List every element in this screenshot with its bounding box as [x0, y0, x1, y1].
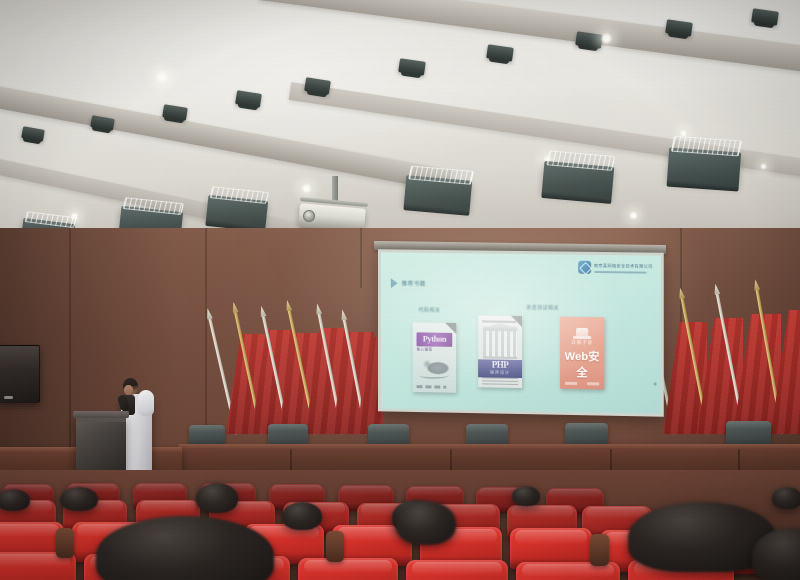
projector-mount-pole	[332, 176, 338, 202]
book-footer-text	[482, 377, 518, 385]
recessed-downlight	[301, 183, 312, 194]
python-book-cover: Python 核心编程	[413, 322, 457, 392]
chair-highlight	[466, 424, 508, 432]
php-book-cover: PHP 程序设计	[478, 315, 522, 388]
track-spot-light	[162, 104, 188, 121]
flag-cluster-right	[663, 278, 800, 434]
chair-highlight	[368, 424, 409, 432]
php-title-band: PHP 程序设计	[478, 359, 522, 378]
flag-pole-finial	[284, 299, 292, 311]
recessed-downlight	[155, 70, 169, 84]
web-book-title: Web安全	[560, 348, 604, 381]
flag-pole-finial	[712, 283, 720, 295]
python-book-title: Python	[417, 333, 453, 344]
rat-illustration	[416, 353, 455, 382]
slide-logo-text: 南京某网络安全技术有限公司	[594, 262, 653, 273]
wall-panel-seam	[205, 228, 207, 428]
track-spot-light	[90, 115, 115, 131]
company-name: 南京某网络安全技术有限公司	[594, 262, 653, 269]
table-edge	[178, 444, 800, 449]
projector-lens	[303, 209, 316, 222]
projected-slide: 南京某网络安全技术有限公司 推荐书籍 代码相关 渗透测试相关 Python 核心…	[381, 252, 661, 413]
track-spot-light	[304, 77, 331, 95]
seat-armrest	[590, 534, 609, 566]
wall-mounted-tv[interactable]	[0, 345, 40, 403]
speaker-podium	[76, 416, 126, 474]
flag-cluster-left	[224, 286, 374, 434]
flag-pole-finial	[752, 279, 760, 291]
chair-highlight	[189, 425, 225, 432]
ceiling-vent-unit	[667, 148, 741, 187]
track-spot-light	[751, 8, 779, 25]
recessed-downlight	[629, 211, 638, 220]
track-spot-light	[235, 90, 262, 108]
recessed-downlight	[600, 32, 613, 45]
presenter-hood	[138, 390, 154, 416]
seat-armrest	[56, 528, 74, 558]
track-spot-light	[398, 58, 426, 75]
ceiling-vent-unit	[542, 161, 615, 199]
slide-company-logo: 南京某网络安全技术有限公司	[578, 261, 653, 275]
tv-screen-sheen	[0, 346, 39, 371]
recessed-downlight	[760, 163, 767, 170]
presenter-face	[124, 385, 133, 395]
seat-armrest	[326, 531, 344, 562]
auditorium-photo: 南京某网络安全技术有限公司 推荐书籍 代码相关 渗透测试相关 Python 核心…	[0, 0, 800, 580]
chair-highlight	[268, 424, 308, 431]
slide-heading: 推荐书籍	[391, 278, 426, 288]
ceiling-vent-unit	[404, 175, 472, 211]
tv-indicator-bar	[4, 396, 14, 399]
book-topline	[482, 320, 516, 323]
track-spot-light	[575, 31, 603, 48]
attendee-head	[396, 501, 456, 545]
attendee-head	[60, 487, 98, 511]
flag-pole-finial	[230, 301, 238, 313]
slide-page-marker	[654, 382, 657, 385]
podium-top	[73, 411, 129, 418]
track-spot-light	[21, 126, 45, 142]
book-footer-text	[565, 382, 599, 386]
wall-panel-seam	[360, 228, 362, 288]
chair-highlight	[565, 423, 608, 431]
projection-screen: 南京某网络安全技术有限公司 推荐书籍 代码相关 渗透测试相关 Python 核心…	[378, 249, 664, 416]
flag-pole-finial	[258, 305, 266, 317]
php-book-subtitle: 程序设计	[478, 369, 522, 376]
company-name-underline	[594, 270, 646, 273]
shield-icon	[576, 328, 588, 336]
temple-illustration	[483, 326, 517, 359]
chevron-right-icon	[391, 278, 398, 288]
python-title-band: Python	[417, 332, 453, 347]
chair-highlight	[726, 421, 771, 429]
attendee-head	[0, 489, 30, 511]
slide-section-label-code: 代码相关	[419, 307, 441, 314]
podium-face	[76, 422, 126, 474]
flag-pole-finial	[314, 303, 322, 315]
slide-section-label-pentest: 渗透测试相关	[526, 304, 559, 311]
web-security-book-cover: 白帽子讲 Web安全	[560, 317, 604, 390]
track-spot-light	[486, 44, 514, 61]
flag-pole-finial	[677, 287, 685, 299]
track-spot-light	[665, 19, 693, 36]
flag-pole-finial	[339, 309, 347, 321]
attendee-head	[282, 502, 322, 530]
vent-grille	[671, 136, 742, 156]
ceiling-vent-unit	[206, 195, 268, 227]
attendee-head	[772, 487, 800, 509]
attendee-head	[512, 486, 540, 506]
python-book-subtitle: 核心编程	[417, 347, 433, 352]
book-footer-text	[417, 385, 447, 389]
wall-panel-seam	[69, 228, 71, 458]
audience-seat[interactable]	[406, 560, 508, 580]
attendee-head	[196, 483, 238, 513]
slide-heading-text: 推荐书籍	[402, 279, 426, 287]
company-logo-mark-icon	[578, 261, 591, 274]
audience-seat[interactable]	[298, 558, 398, 580]
web-book-subtitle: 白帽子讲	[560, 340, 604, 347]
